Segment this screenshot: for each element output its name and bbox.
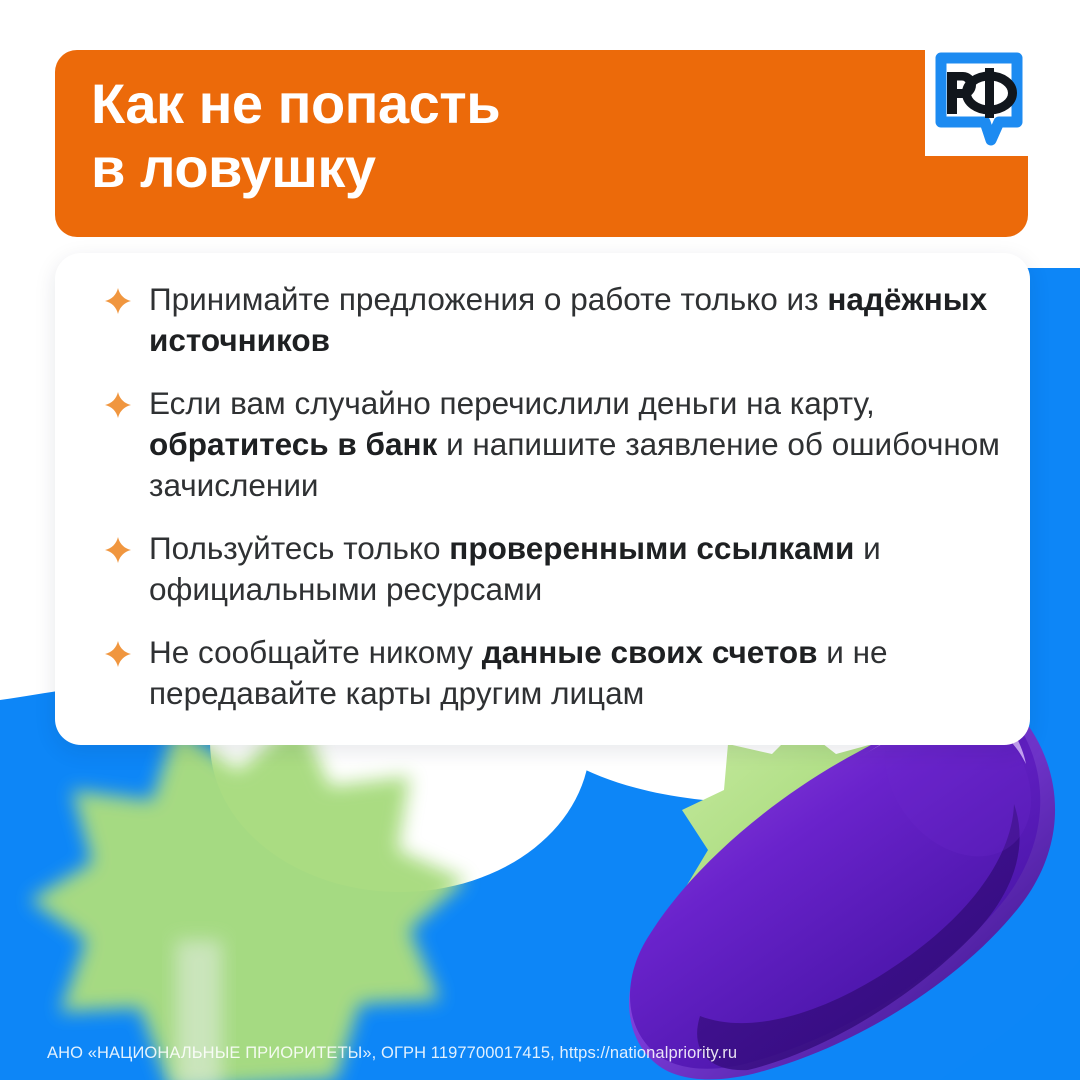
diamond-star-icon xyxy=(105,641,131,667)
tips-list: Принимайте предложения о работе только и… xyxy=(103,279,1008,713)
list-item-text: Если вам случайно перечислили деньги на … xyxy=(149,385,1000,503)
page-title: Как не попасть в ловушку xyxy=(91,72,911,201)
list-item-text: Пользуйтесь только проверенными ссылками… xyxy=(149,530,881,607)
title-banner: Как не попасть в ловушку xyxy=(55,50,1028,237)
list-item: Принимайте предложения о работе только и… xyxy=(103,279,1008,361)
tips-card: Принимайте предложения о работе только и… xyxy=(55,253,1030,745)
list-item: Не сообщайте никому данные своих счетов … xyxy=(103,632,1008,714)
list-item-text: Принимайте предложения о работе только и… xyxy=(149,281,987,358)
list-item: Если вам случайно перечислили деньги на … xyxy=(103,383,1008,506)
list-item-text: Не сообщайте никому данные своих счетов … xyxy=(149,634,888,711)
poster-root: Как не попасть в ловушку Принимайте пред… xyxy=(0,0,1080,1080)
list-item: Пользуйтесь только проверенными ссылками… xyxy=(103,528,1008,610)
rf-logo xyxy=(925,44,1033,156)
diamond-star-icon xyxy=(105,392,131,418)
diamond-star-icon xyxy=(105,288,131,314)
footer-credit: АНО «НАЦИОНАЛЬНЫЕ ПРИОРИТЕТЫ», ОГРН 1197… xyxy=(47,1044,737,1063)
diamond-star-icon xyxy=(105,537,131,563)
